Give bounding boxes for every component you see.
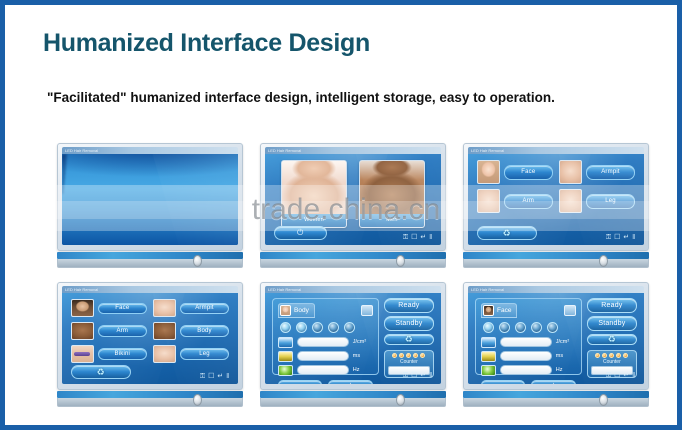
counter-leds <box>388 353 430 358</box>
device-screen: Women Men ⏻ <box>265 154 441 245</box>
frequency-icon <box>481 365 496 376</box>
pulse-input[interactable] <box>500 351 552 361</box>
mode-dot-1[interactable] <box>483 322 494 333</box>
base-top-strip <box>463 252 649 259</box>
decrease-button[interactable]: − <box>481 380 525 384</box>
bikini-thumbnail <box>71 345 94 363</box>
battery-icon: ‖ <box>632 234 635 241</box>
gender-label: Women <box>282 214 346 227</box>
base-bottom-strip <box>57 398 243 407</box>
plug-icon: ↵ <box>623 234 629 241</box>
battery-icon: ‖ <box>226 373 229 380</box>
param-frequency: Hz <box>481 365 576 376</box>
female-leg-thumbnail <box>559 189 582 213</box>
splash-rays <box>62 154 238 194</box>
female-armpit-thumbnail <box>559 160 582 184</box>
standby-button[interactable]: Standby <box>384 316 434 331</box>
page-frame: Humanized Interface Design "Facilitated"… <box>0 0 682 430</box>
tab-body[interactable]: Body <box>278 303 315 318</box>
device-titlebar: LED Hair Removal <box>468 286 644 293</box>
plug-icon: ↵ <box>623 372 629 379</box>
battery-icon: ‖ <box>429 372 432 379</box>
trash-icon: ☐ <box>614 234 620 241</box>
female-face-thumbnail <box>477 160 500 184</box>
device-titlebar: LED Hair Removal <box>265 147 441 154</box>
device-titlebar: LED Hair Removal <box>265 286 441 293</box>
body-part-label: Arm <box>504 194 553 209</box>
tab-thumbnail <box>280 305 291 316</box>
ready-button[interactable]: Ready <box>384 298 434 313</box>
gender-options: Women Men <box>281 160 425 227</box>
power-button[interactable]: ⏻ <box>274 226 327 240</box>
frequency-input[interactable] <box>297 365 349 375</box>
female-arm-thumbnail <box>477 189 500 213</box>
page-subtitle: "Facilitated" humanized interface design… <box>47 88 647 108</box>
plug-icon: ↵ <box>420 234 426 241</box>
battery-icon: ‖ <box>632 372 635 379</box>
action-panel: Ready Standby ♻ <box>587 298 637 375</box>
base-top-strip <box>57 391 243 398</box>
lock-icon: ⚿ <box>606 234 611 241</box>
panel-treatment-face: LED Hair Removal Face <box>463 282 649 408</box>
body-part-armpit[interactable]: Armpit <box>559 159 635 185</box>
device-base <box>463 391 649 408</box>
tab-row: Face <box>481 303 576 318</box>
body-part-label: Armpit <box>586 165 635 180</box>
male-body-thumbnail <box>153 322 176 340</box>
device-screen <box>62 154 238 245</box>
splash-background <box>62 154 238 245</box>
mode-dot-4[interactable] <box>328 322 339 333</box>
battery-icon: ‖ <box>429 234 432 241</box>
treatment-control: Face <box>475 298 637 375</box>
base-bottom-strip <box>57 259 243 268</box>
body-part-menu: Face Armpit Arm <box>477 159 635 214</box>
male-face-thumbnail <box>71 299 94 317</box>
tab-row: Body <box>278 303 373 318</box>
body-part-label: Arm <box>98 325 147 337</box>
base-top-strip <box>260 391 446 398</box>
led-3 <box>609 353 614 358</box>
mode-dot-4[interactable] <box>531 322 542 333</box>
counter-label: Counter <box>388 359 430 365</box>
recycle-icon: ♻ <box>97 368 105 377</box>
device-base <box>57 252 243 269</box>
panel-splash: LED Hair Removal <box>57 143 243 269</box>
standby-button[interactable]: Standby <box>587 316 637 331</box>
stepper-row: − + <box>278 379 373 384</box>
increase-button[interactable]: + <box>531 380 575 384</box>
status-icon-row: ⚿ ☐ ↵ ‖ <box>403 234 432 241</box>
trash-icon: ☐ <box>614 372 620 379</box>
base-top-strip <box>57 252 243 259</box>
device-base <box>463 252 649 269</box>
plug-icon: ↵ <box>217 373 223 380</box>
status-icon-row: ⚿ ☐ ↵ ‖ <box>606 234 635 241</box>
male-leg-thumbnail <box>153 345 176 363</box>
device-titlebar: LED Hair Removal <box>62 286 238 293</box>
device-screen: Face Armpit Arm <box>62 293 238 384</box>
tab-face[interactable]: Face <box>481 303 517 318</box>
device-shell: LED Hair Removal Body <box>260 282 446 390</box>
mode-dot-3[interactable] <box>515 322 526 333</box>
screenshot-grid: LED Hair Removal LED Hair Removal <box>57 143 649 411</box>
recycle-icon: ♻ <box>503 229 511 238</box>
lock-icon: ⚿ <box>403 372 408 379</box>
counter-label: Counter <box>591 359 633 365</box>
body-part-label: Bikini <box>98 348 147 360</box>
mode-dot-1[interactable] <box>280 322 291 333</box>
settings-icon[interactable] <box>361 305 373 316</box>
panel-treatment-body: LED Hair Removal Body <box>260 282 446 408</box>
power-icon: ⏻ <box>297 229 303 237</box>
trash-icon: ☐ <box>208 373 214 380</box>
device-base <box>260 391 446 408</box>
led-5 <box>420 353 425 358</box>
param-energy: J/cm² <box>481 337 576 348</box>
mode-selector <box>481 321 576 334</box>
body-part-body[interactable]: Body <box>153 321 229 341</box>
energy-unit: J/cm² <box>556 339 576 345</box>
treatment-control: Body <box>272 298 434 375</box>
energy-input[interactable] <box>297 337 349 347</box>
energy-input[interactable] <box>500 337 552 347</box>
base-top-strip <box>463 391 649 398</box>
device-shell: LED Hair Removal Face <box>463 282 649 390</box>
pulse-icon <box>278 351 293 362</box>
body-part-face[interactable]: Face <box>71 298 147 318</box>
panel-female-parts: LED Hair Removal Face Armpit <box>463 143 649 269</box>
body-part-leg[interactable]: Leg <box>559 188 635 214</box>
energy-unit: J/cm² <box>353 339 373 345</box>
decrease-button[interactable]: − <box>278 380 322 384</box>
status-icon-row: ⚿ ☐ ↵ ‖ <box>403 372 432 379</box>
energy-icon <box>481 337 496 348</box>
plug-icon: ↵ <box>420 372 426 379</box>
tab-thumbnail <box>483 305 494 316</box>
device-shell: LED Hair Removal Women <box>260 143 446 251</box>
led-5 <box>623 353 628 358</box>
base-bottom-strip <box>260 259 446 268</box>
mode-selector <box>278 321 373 334</box>
frequency-icon <box>278 365 293 376</box>
status-icon-row: ⚿ ☐ ↵ ‖ <box>200 373 229 380</box>
device-base <box>260 252 446 269</box>
gender-label: Men <box>360 214 424 227</box>
body-part-menu: Face Armpit Arm <box>71 298 229 364</box>
led-1 <box>595 353 600 358</box>
frequency-unit: Hz <box>353 367 373 373</box>
body-part-bikini[interactable]: Bikini <box>71 344 147 364</box>
male-armpit-thumbnail <box>153 299 176 317</box>
recycle-button[interactable]: ♻ <box>587 334 637 345</box>
body-part-arm[interactable]: Arm <box>71 321 147 341</box>
lock-icon: ⚿ <box>403 234 408 241</box>
body-part-label: Armpit <box>180 303 229 315</box>
device-screen: Face Armpit Arm <box>468 154 644 245</box>
device-titlebar: LED Hair Removal <box>468 147 644 154</box>
body-part-armpit[interactable]: Armpit <box>153 298 229 318</box>
ready-button[interactable]: Ready <box>587 298 637 313</box>
counter-leds <box>591 353 633 358</box>
settings-icon[interactable] <box>564 305 576 316</box>
led-4 <box>616 353 621 358</box>
mode-dot-2[interactable] <box>499 322 510 333</box>
recycle-button[interactable]: ♻ <box>71 365 131 379</box>
device-titlebar: LED Hair Removal <box>62 147 238 154</box>
param-pulse: ms <box>481 351 576 362</box>
param-pulse: ms <box>278 351 373 362</box>
recycle-icon: ♻ <box>608 335 616 344</box>
lock-icon: ⚿ <box>200 373 205 380</box>
tab-label: Face <box>497 307 511 314</box>
page-title: Humanized Interface Design <box>43 29 370 58</box>
frequency-unit: Hz <box>556 367 576 373</box>
trash-icon: ☐ <box>411 372 417 379</box>
device-screen: Face <box>468 293 644 384</box>
pulse-unit: ms <box>353 353 373 359</box>
male-torso-photo <box>360 161 424 213</box>
trash-icon: ☐ <box>411 234 417 241</box>
status-icon-row: ⚿ ☐ ↵ ‖ <box>606 372 635 379</box>
energy-icon <box>278 337 293 348</box>
pulse-icon <box>481 351 496 362</box>
recycle-button[interactable]: ♻ <box>477 226 537 240</box>
gender-option-men[interactable]: Men <box>359 160 425 227</box>
body-part-face[interactable]: Face <box>477 159 553 185</box>
param-energy: J/cm² <box>278 337 373 348</box>
parameter-panel: Body <box>272 298 379 375</box>
mode-dot-5[interactable] <box>547 322 558 333</box>
recycle-button[interactable]: ♻ <box>384 334 434 345</box>
body-part-arm[interactable]: Arm <box>477 188 553 214</box>
device-shell: LED Hair Removal Face Armpit <box>463 143 649 251</box>
base-bottom-strip <box>463 259 649 268</box>
led-3 <box>406 353 411 358</box>
body-part-label: Face <box>98 303 147 315</box>
female-torso-photo <box>282 161 346 213</box>
parameter-panel: Face <box>475 298 582 375</box>
led-2 <box>399 353 404 358</box>
male-arm-thumbnail <box>71 322 94 340</box>
lock-icon: ⚿ <box>606 372 611 379</box>
led-4 <box>413 353 418 358</box>
action-panel: Ready Standby ♻ <box>384 298 434 375</box>
body-part-label: Leg <box>180 348 229 360</box>
increase-button[interactable]: + <box>328 380 372 384</box>
frequency-input[interactable] <box>500 365 552 375</box>
device-screen: Body <box>265 293 441 384</box>
mode-dot-5[interactable] <box>344 322 355 333</box>
led-2 <box>602 353 607 358</box>
panel-gender-select: LED Hair Removal Women <box>260 143 446 269</box>
pulse-input[interactable] <box>297 351 349 361</box>
panel-male-parts: LED Hair Removal Face Armpit <box>57 282 243 408</box>
base-top-strip <box>260 252 446 259</box>
body-part-label: Face <box>504 165 553 180</box>
body-part-label: Leg <box>586 194 635 209</box>
device-base <box>57 391 243 408</box>
led-1 <box>392 353 397 358</box>
mode-dot-2[interactable] <box>296 322 307 333</box>
body-part-leg[interactable]: Leg <box>153 344 229 364</box>
param-frequency: Hz <box>278 365 373 376</box>
stepper-row: − + <box>481 379 576 384</box>
body-part-label: Body <box>180 325 229 337</box>
base-bottom-strip <box>463 398 649 407</box>
device-shell: LED Hair Removal <box>57 143 243 251</box>
mode-dot-3[interactable] <box>312 322 323 333</box>
device-shell: LED Hair Removal Face Armpit <box>57 282 243 390</box>
tab-label: Body <box>294 307 309 314</box>
recycle-icon: ♻ <box>405 335 413 344</box>
base-bottom-strip <box>260 398 446 407</box>
page-canvas: Humanized Interface Design "Facilitated"… <box>5 5 677 425</box>
pulse-unit: ms <box>556 353 576 359</box>
gender-option-women[interactable]: Women <box>281 160 347 227</box>
